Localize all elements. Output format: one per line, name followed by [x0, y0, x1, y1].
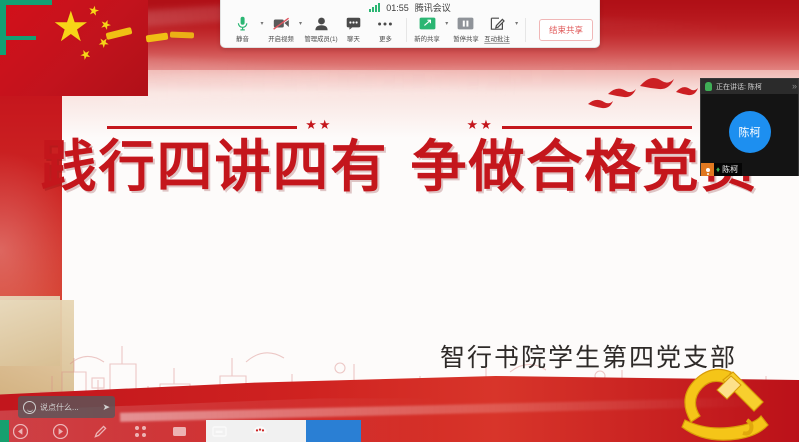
chat-button[interactable]: 聊天	[338, 15, 369, 43]
video-panel-body: 陈柯 ♦ 陈柯	[701, 94, 798, 176]
manage-members-icon	[314, 15, 329, 32]
toolbar-divider	[525, 18, 526, 42]
meeting-timer: 01:55	[386, 3, 409, 13]
comment-input-placeholder[interactable]: 说点什么...	[40, 402, 98, 413]
meeting-controls-row: 静音 ▾ 开启视频 ▾	[221, 15, 599, 48]
pen-icon[interactable]	[80, 420, 120, 442]
participant-name: 陈柯	[722, 164, 738, 175]
zoom-slide-icon[interactable]	[160, 420, 200, 442]
toolbar-divider	[406, 18, 407, 42]
flag-star-small: ★	[87, 3, 101, 18]
microphone-icon	[705, 82, 712, 91]
black-screen-icon[interactable]	[200, 420, 240, 442]
mute-dropdown-caret[interactable]: ▾	[258, 20, 265, 27]
flag-edge-accent	[0, 0, 52, 5]
manage-members-label: 管理成员(1)	[304, 33, 337, 43]
screen: ★ ★ ★ ★ ★	[0, 0, 799, 442]
double-chevron-right-icon[interactable]: »	[792, 81, 795, 91]
start-video-button[interactable]: 开启视频	[266, 15, 297, 43]
annotate-icon	[490, 15, 505, 32]
chat-label: 聊天	[347, 33, 360, 43]
pause-share-icon	[457, 15, 474, 32]
more-button[interactable]: 更多	[369, 15, 400, 43]
china-flag-icon: ★ ★ ★ ★ ★	[0, 0, 148, 96]
next-slide-icon[interactable]	[40, 420, 80, 442]
title-rule-left	[107, 126, 297, 129]
camera-off-icon	[273, 15, 290, 32]
participant-footer: ♦ 陈柯	[701, 163, 742, 176]
title-rule-right	[502, 126, 692, 129]
speaking-indicator-label: 正在讲话: 陈柯	[716, 82, 762, 92]
start-video-label: 开启视频	[269, 33, 294, 43]
manage-members-button[interactable]: 管理成员(1)	[304, 15, 338, 43]
flying-birds-icon	[578, 60, 718, 118]
flag-star-small: ★	[98, 16, 114, 32]
new-share-dropdown-caret[interactable]: ▾	[443, 20, 450, 27]
emoji-smiley-icon[interactable]	[23, 401, 36, 414]
mute-label: 静音	[236, 33, 249, 43]
gold-ribbon-dash	[170, 32, 194, 39]
more-dots-icon	[377, 15, 393, 32]
signal-bars-icon	[369, 4, 380, 12]
microphone-active-icon: ♦	[716, 166, 720, 174]
presentation-control-bar	[0, 420, 799, 442]
chat-icon	[346, 15, 361, 32]
avatar: 陈柯	[729, 111, 771, 153]
all-slides-icon[interactable]	[120, 420, 160, 442]
title-stars-left: ★★	[305, 118, 332, 131]
microphone-icon	[237, 15, 248, 32]
video-thumbnail-panel[interactable]: 正在讲话: 陈柯 » 陈柯 ♦ 陈柯	[700, 78, 799, 176]
title-stars-right: ★★	[467, 118, 494, 131]
pause-share-button[interactable]: 暂停共享	[450, 15, 481, 43]
comment-input-box[interactable]: 说点什么... ➤	[18, 396, 115, 418]
video-panel-header: 正在讲话: 陈柯 »	[701, 79, 798, 94]
video-dropdown-caret[interactable]: ▾	[297, 20, 304, 27]
slide-title-block: ★★ ★★ 践行四讲四有争做合格党员	[0, 118, 799, 198]
pause-share-label: 暂停共享	[453, 33, 478, 43]
new-share-icon	[419, 15, 436, 32]
mute-button[interactable]: 静音	[227, 15, 258, 43]
title-decoration-rule: ★★ ★★	[80, 118, 720, 136]
tencent-meeting-toolbar: 01:55 腾讯会议 静音 ▾	[220, 0, 600, 48]
new-share-label: 新的共享	[415, 33, 440, 43]
page-title-part-1: 践行四讲四有	[41, 135, 389, 200]
annotate-label: 互动批注	[485, 33, 510, 44]
flag-edge-accent	[0, 0, 6, 55]
annotate-dropdown-caret[interactable]: ▾	[513, 20, 520, 27]
new-share-button[interactable]: 新的共享	[412, 15, 443, 43]
meeting-app-name: 腾讯会议	[415, 1, 451, 14]
meeting-status-bar: 01:55 腾讯会议	[221, 0, 599, 15]
host-badge-icon	[701, 163, 714, 176]
flag-edge-accent	[0, 36, 36, 40]
annotate-button[interactable]: 互动批注	[482, 15, 513, 44]
more-options-icon[interactable]	[240, 420, 280, 442]
page-title: 践行四讲四有争做合格党员	[0, 138, 799, 198]
send-arrow-icon[interactable]: ➤	[102, 402, 110, 413]
flag-star-large: ★	[52, 6, 90, 48]
more-label: 更多	[379, 33, 392, 43]
end-share-button[interactable]: 结束共享	[539, 19, 593, 41]
slide-background: ★ ★ ★ ★ ★	[0, 0, 799, 442]
taskbar-green-marker	[0, 420, 9, 442]
